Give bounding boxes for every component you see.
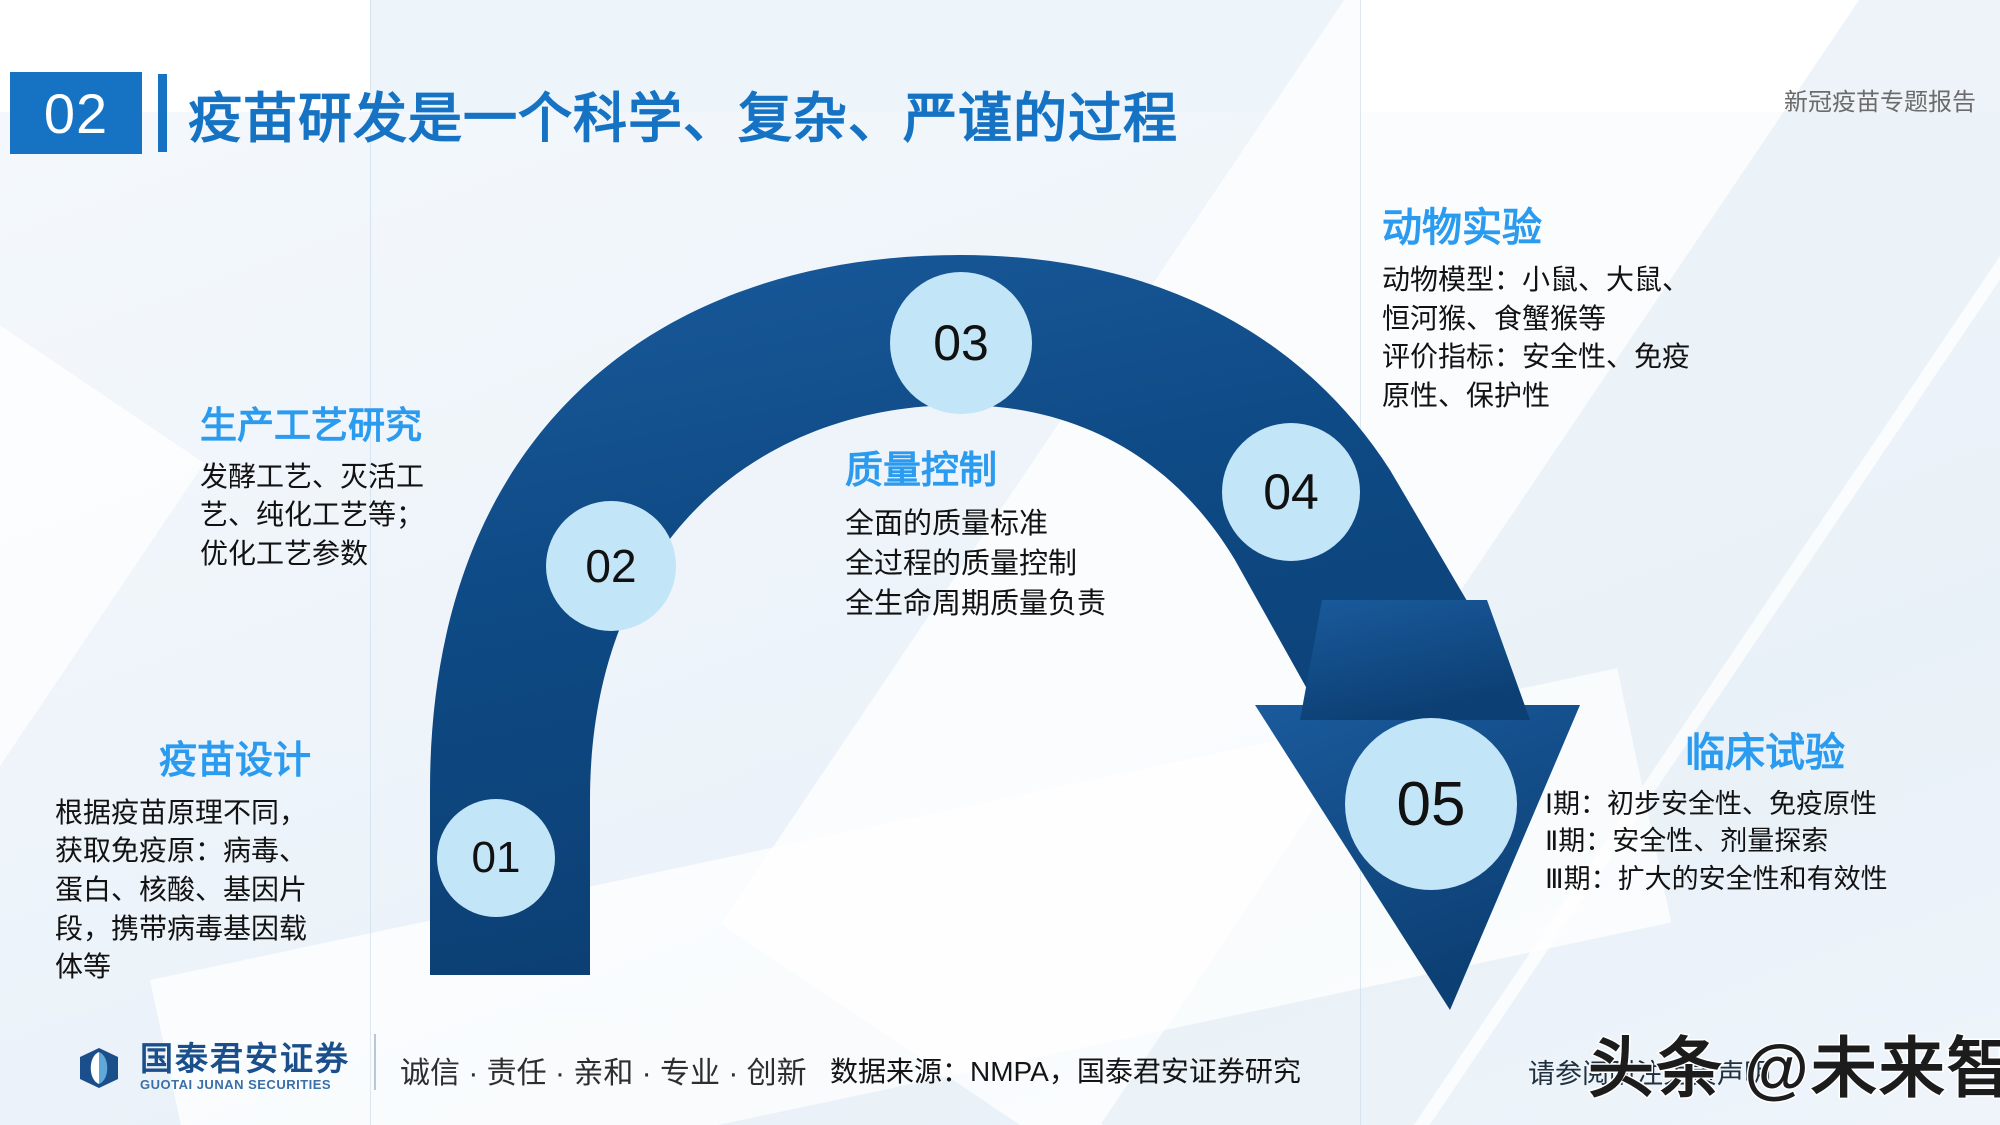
flow-node-04[interactable]: 04 [1222,423,1360,561]
logo-text-group: 国泰君安证券 GUOTAI JUNAN SECURITIES [140,1042,350,1095]
logo-text-cn: 国泰君安证券 [140,1040,350,1077]
company-slogan: 诚信 · 责任 · 亲和 · 专业 · 创新 [400,1048,807,1092]
background-vline-right [1360,0,1361,1125]
animal-line-3: 评价指标：安全性、免疫 [1382,338,1802,377]
process-line-1: 发酵工艺、灭活工 [200,458,520,497]
block-clinical-trial: 临床试验 Ⅰ期：初步安全性、免疫原性 Ⅱ期：安全性、剂量探索 Ⅲ期：扩大的安全性… [1545,730,1985,898]
block-animal-experiment: 动物实验 动物模型：小鼠、大鼠、 恒河猴、食蟹猴等 评价指标：安全性、免疫 原性… [1382,205,1802,416]
data-source-note: 数据来源：NMPA，国泰君安证券研究 [830,1050,1301,1090]
block-production-process: 生产工艺研究 发酵工艺、灭活工 艺、纯化工艺等； 优化工艺参数 [200,405,520,573]
section-number-badge: 02 [10,72,142,154]
design-line-1: 根据疫苗原理不同， [55,794,415,833]
guotai-junan-logo-icon [72,1046,126,1090]
clinical-line-3: Ⅲ期：扩大的安全性和有效性 [1545,861,1985,898]
process-line-2: 艺、纯化工艺等； [200,496,520,535]
design-line-4: 段，携带病毒基因载 [55,910,415,949]
design-line-5: 体等 [55,948,415,987]
quality-line-2: 全过程的质量控制 [845,544,1195,584]
slide-canvas: 02 疫苗研发是一个科学、复杂、严谨的过程 新冠疫苗专题报告 01 02 03 … [0,0,2000,1125]
company-logo: 国泰君安证券 GUOTAI JUNAN SECURITIES [72,1042,350,1095]
block-heading-design: 疫苗设计 [55,740,415,784]
block-quality-control: 质量控制 全面的质量标准 全过程的质量控制 全生命周期质量负责 [845,450,1195,624]
block-vaccine-design: 疫苗设计 根据疫苗原理不同， 获取免疫原：病毒、 蛋白、核酸、基因片 段，携带病… [55,740,415,987]
report-tag: 新冠疫苗专题报告 [1784,82,1976,117]
watermark: 头条 @未来智库 [1588,1015,2000,1111]
block-heading-animal: 动物实验 [1382,205,1802,251]
block-heading-clinical: 临床试验 [1545,730,1985,776]
block-body-clinical: Ⅰ期：初步安全性、免疫原性 Ⅱ期：安全性、剂量探索 Ⅲ期：扩大的安全性和有效性 [1545,786,1985,898]
quality-line-3: 全生命周期质量负责 [845,584,1195,624]
block-heading-quality: 质量控制 [845,450,1195,494]
flow-node-05[interactable]: 05 [1345,718,1517,890]
clinical-line-1: Ⅰ期：初步安全性、免疫原性 [1545,786,1985,823]
block-body-animal: 动物模型：小鼠、大鼠、 恒河猴、食蟹猴等 评价指标：安全性、免疫 原性、保护性 [1382,261,1802,416]
design-line-2: 获取免疫原：病毒、 [55,832,415,871]
process-line-3: 优化工艺参数 [200,535,520,574]
logo-text-en: GUOTAI JUNAN SECURITIES [140,1077,331,1092]
section-divider-bar [158,74,167,152]
animal-line-1: 动物模型：小鼠、大鼠、 [1382,261,1802,300]
block-body-process: 发酵工艺、灭活工 艺、纯化工艺等； 优化工艺参数 [200,458,520,574]
animal-line-4: 原性、保护性 [1382,377,1802,416]
block-heading-process: 生产工艺研究 [200,405,520,448]
clinical-line-2: Ⅱ期：安全性、剂量探索 [1545,823,1985,860]
block-body-quality: 全面的质量标准 全过程的质量控制 全生命周期质量负责 [845,504,1195,624]
flow-node-02[interactable]: 02 [546,501,676,631]
flow-node-03[interactable]: 03 [890,272,1032,414]
animal-line-2: 恒河猴、食蟹猴等 [1382,300,1802,339]
design-line-3: 蛋白、核酸、基因片 [55,871,415,910]
flow-node-01[interactable]: 01 [437,799,555,917]
quality-line-1: 全面的质量标准 [845,504,1195,544]
page-title: 疫苗研发是一个科学、复杂、严谨的过程 [188,74,1178,153]
block-body-design: 根据疫苗原理不同， 获取免疫原：病毒、 蛋白、核酸、基因片 段，携带病毒基因载 … [55,794,415,987]
footer-divider [374,1034,376,1090]
